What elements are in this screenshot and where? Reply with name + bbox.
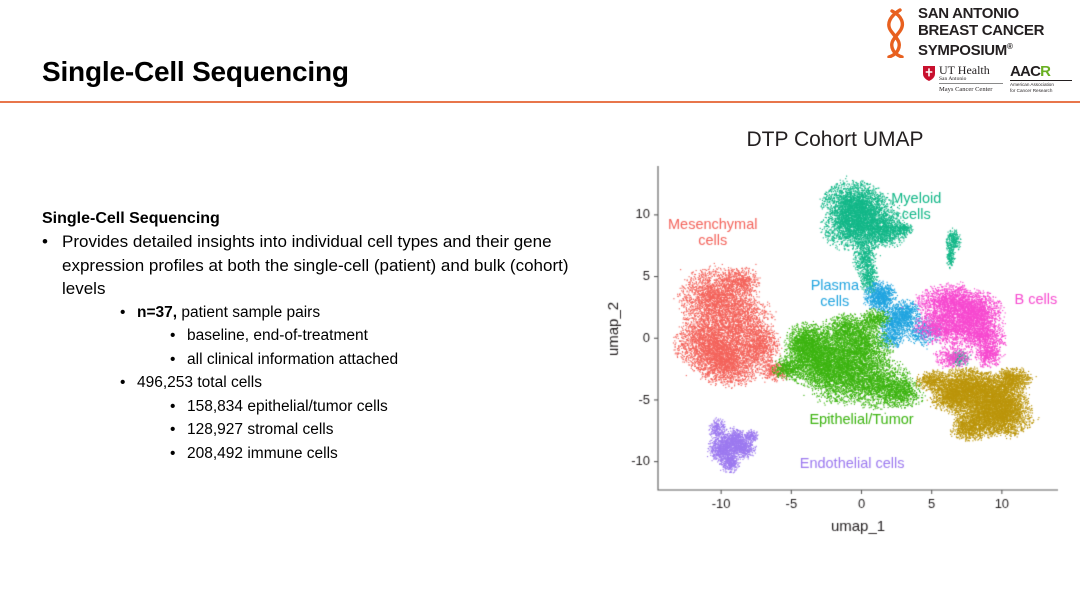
logo-block: SAN ANTONIO BREAST CANCER SYMPOSIUM® UT … — [876, 6, 1072, 98]
sabcs-ribbon-icon — [880, 8, 914, 58]
partner-logos: UT Health San Antonio Mays Cancer Center… — [922, 64, 1072, 98]
bullet-item: •Provides detailed insights into individ… — [42, 230, 582, 301]
sabcs-line-2: BREAST CANCER — [918, 23, 1070, 40]
bullet-text: baseline, end-of-treatment — [187, 324, 582, 348]
ut-health-text: UT Health San Antonio Mays Cancer Center — [939, 64, 1003, 94]
ut-health-name: UT Health — [939, 64, 1003, 76]
shield-icon — [922, 65, 936, 82]
bullet-text: 158,834 epithelial/tumor cells — [187, 395, 582, 419]
bullet-item: •n=37, patient sample pairs — [120, 301, 582, 325]
aacr-logo: AACR American Association for Cancer Res… — [1010, 64, 1072, 96]
bullet-item: •208,492 immune cells — [170, 442, 582, 466]
body-heading: Single-Cell Sequencing — [42, 208, 582, 229]
sabcs-logo: SAN ANTONIO BREAST CANCER SYMPOSIUM® — [876, 6, 1072, 60]
bullet-bold-prefix: n=37, — [137, 304, 177, 321]
bullet-marker: • — [170, 348, 187, 372]
bullet-marker: • — [42, 230, 62, 254]
bullet-text: 496,253 total cells — [137, 371, 582, 395]
title-divider — [0, 101, 1080, 103]
bullet-text: 128,927 stromal cells — [187, 418, 582, 442]
bullet-marker: • — [170, 324, 187, 348]
bullet-marker: • — [120, 301, 137, 325]
bullet-text: 208,492 immune cells — [187, 442, 582, 466]
sabcs-line-1: SAN ANTONIO — [918, 6, 1070, 23]
bullet-text: all clinical information attached — [187, 348, 582, 372]
bullet-item: •158,834 epithelial/tumor cells — [170, 395, 582, 419]
content-body: Single-Cell Sequencing •Provides detaile… — [42, 208, 582, 465]
umap-chart-panel: DTP Cohort UMAP — [600, 128, 1070, 548]
aacr-wordmark: AACR — [1010, 64, 1072, 79]
sabcs-wordmark: SAN ANTONIO BREAST CANCER SYMPOSIUM® — [918, 6, 1070, 60]
umap-scatter-plot — [600, 158, 1070, 548]
bullet-item: •all clinical information attached — [170, 348, 582, 372]
bullet-text: n=37, patient sample pairs — [137, 301, 582, 325]
bullet-marker: • — [170, 418, 187, 442]
sabcs-line-3: SYMPOSIUM® — [918, 39, 1070, 60]
bullet-marker: • — [170, 395, 187, 419]
ut-health-center: Mays Cancer Center — [939, 83, 1003, 94]
bullet-item: •128,927 stromal cells — [170, 418, 582, 442]
bullet-list: •Provides detailed insights into individ… — [42, 230, 582, 465]
bullet-text: Provides detailed insights into individu… — [62, 230, 582, 301]
page-title: Single-Cell Sequencing — [42, 56, 349, 88]
bullet-marker: • — [120, 371, 137, 395]
bullet-item: •496,253 total cells — [120, 371, 582, 395]
ut-health-city: San Antonio — [939, 76, 1003, 83]
aacr-tagline-line-2: for Cancer Research — [1010, 88, 1072, 94]
ut-health-logo: UT Health San Antonio Mays Cancer Center — [922, 64, 1002, 98]
chart-title: DTP Cohort UMAP — [600, 128, 1070, 152]
bullet-marker: • — [170, 442, 187, 466]
aacr-tagline: American Association for Cancer Research — [1010, 80, 1072, 94]
bullet-item: •baseline, end-of-treatment — [170, 324, 582, 348]
presentation-slide: Single-Cell Sequencing SAN ANTONIO BREAS… — [0, 0, 1080, 597]
